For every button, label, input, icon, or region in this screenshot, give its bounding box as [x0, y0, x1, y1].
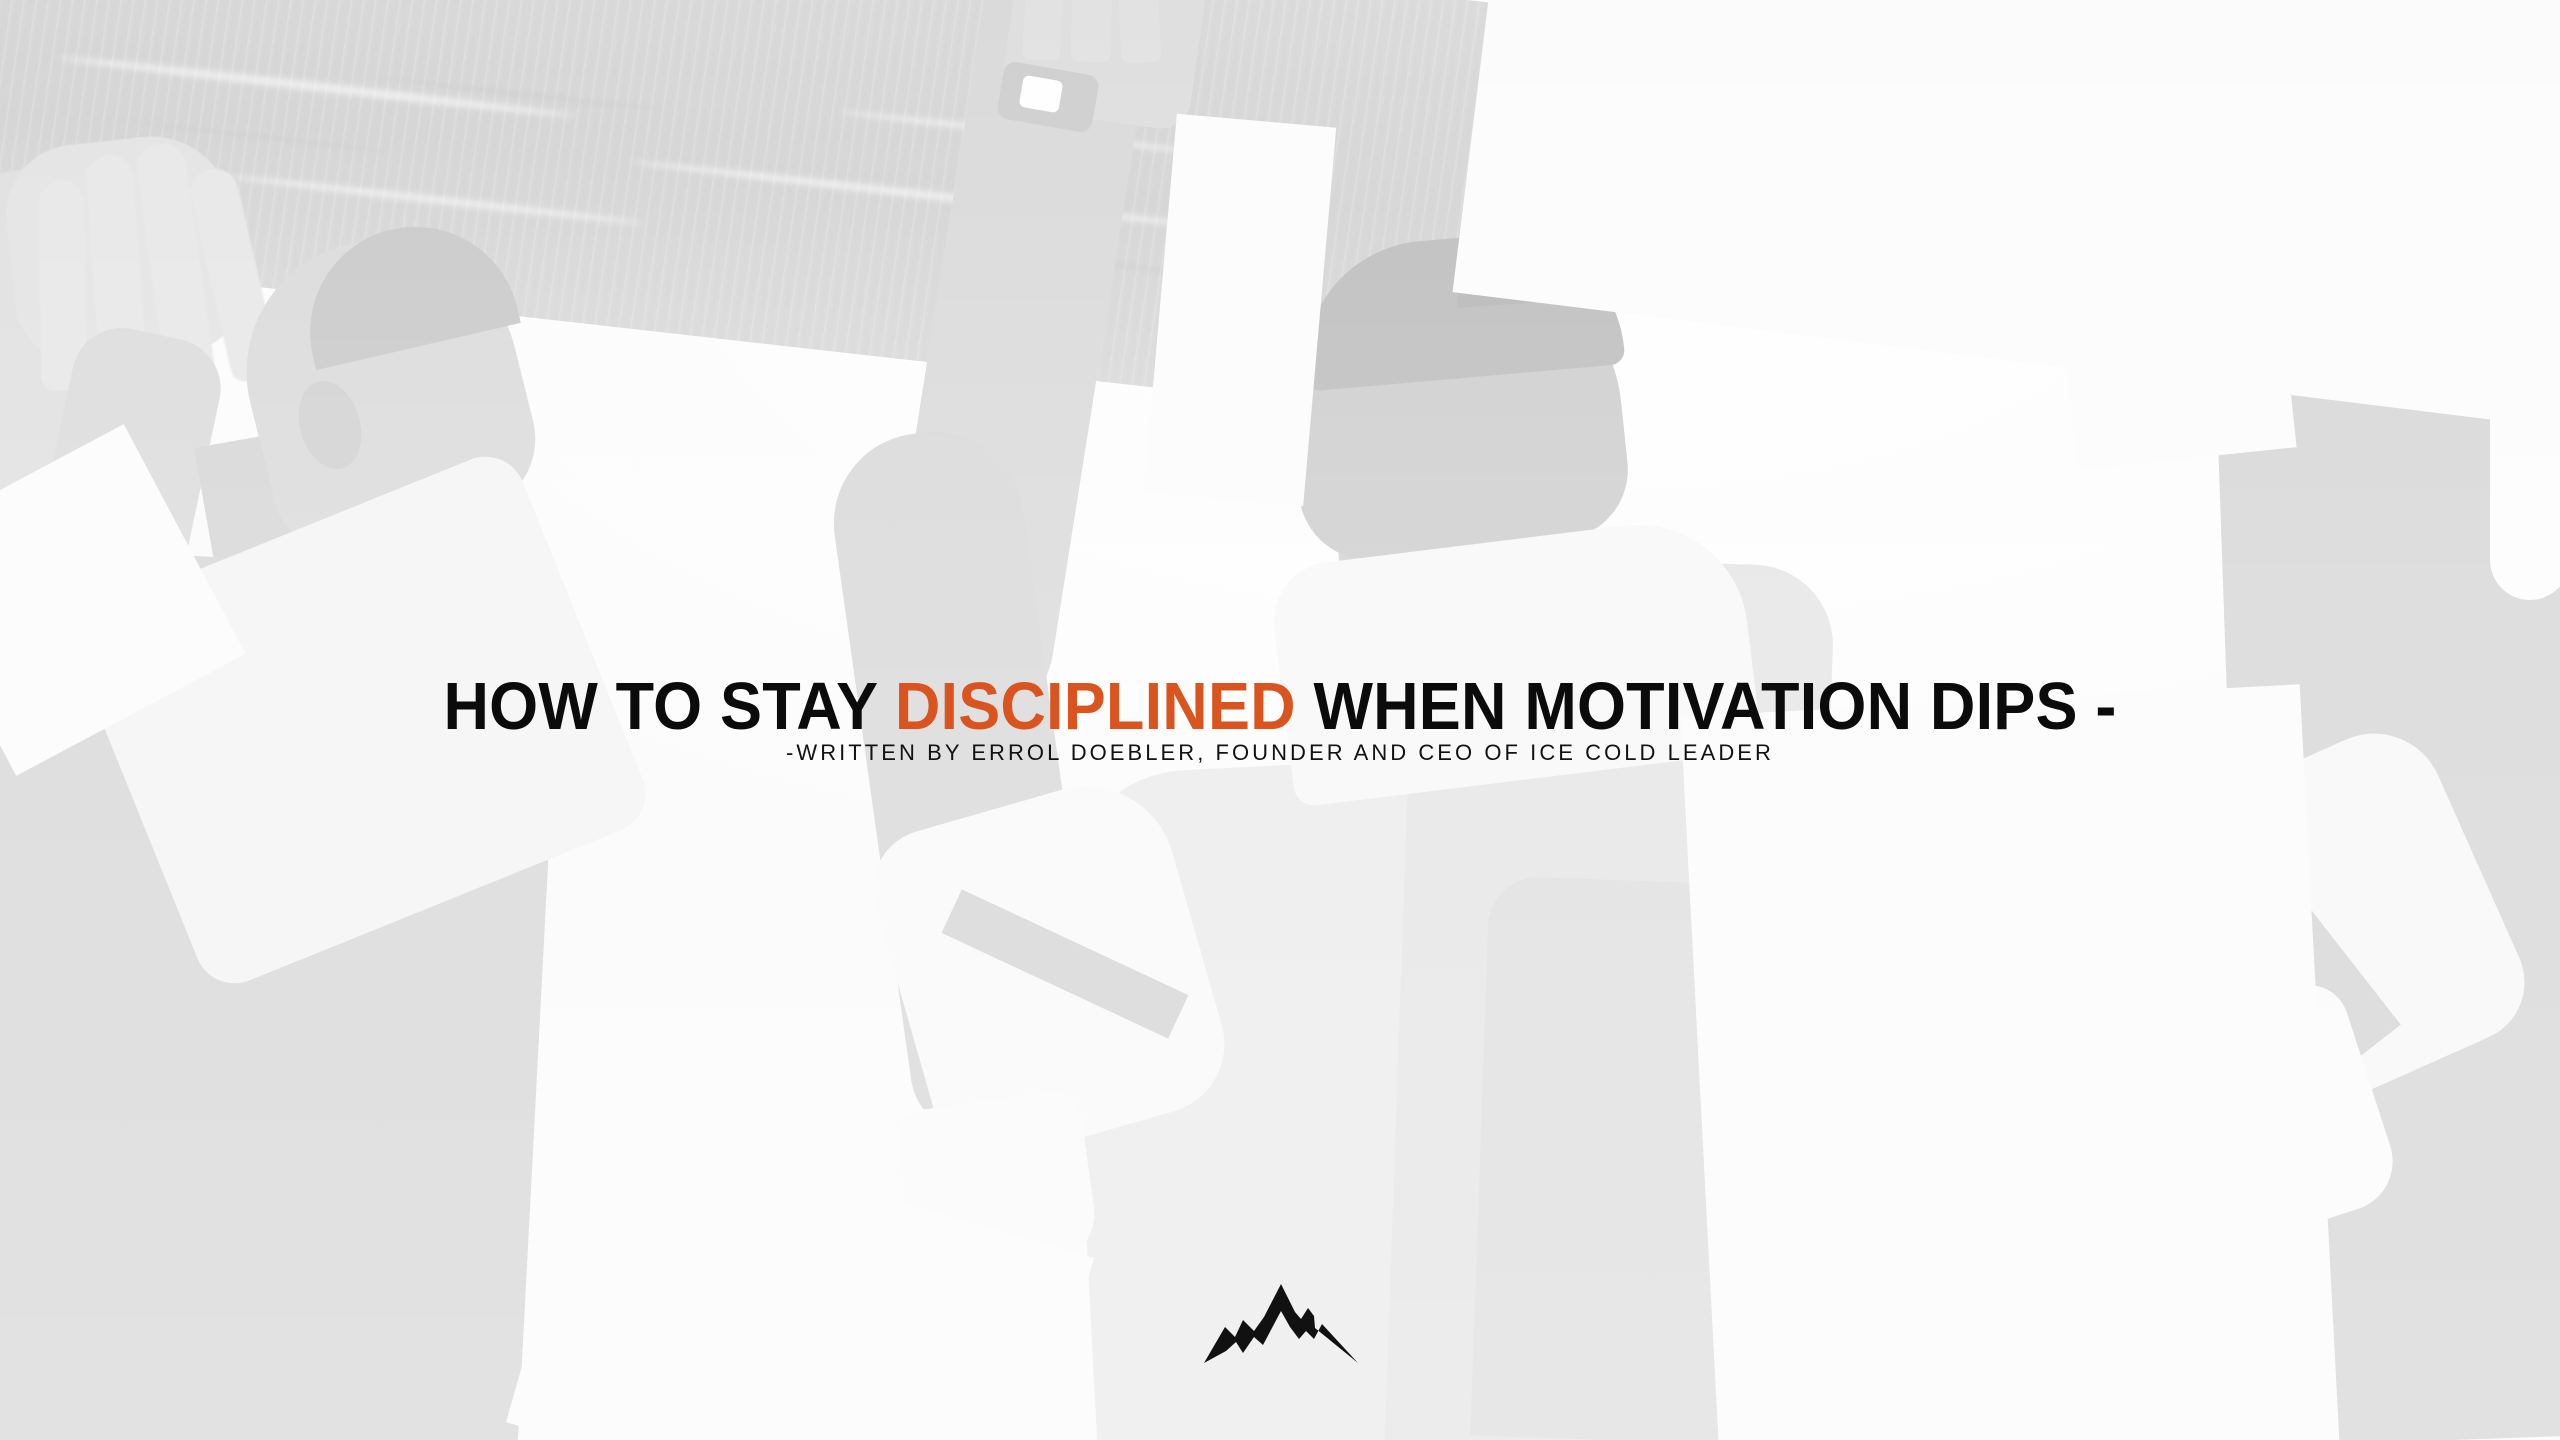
headline-text-after: WHEN MOTIVATION DIPS - [1296, 669, 2117, 744]
mountain-peak-logo [1202, 1281, 1360, 1367]
mountain-peak-icon [1202, 1281, 1360, 1367]
headline-text-before: HOW TO STAY [443, 669, 894, 744]
page-title: HOW TO STAY DISCIPLINED WHEN MOTIVATION … [77, 673, 2483, 740]
headline-accent-word: DISCIPLINED [895, 669, 1296, 744]
article-byline: -WRITTEN BY ERROL DOEBLER, FOUNDER AND C… [0, 740, 2560, 766]
hero-banner: HOW TO STAY DISCIPLINED WHEN MOTIVATION … [0, 0, 2560, 1440]
hero-content: HOW TO STAY DISCIPLINED WHEN MOTIVATION … [0, 0, 2560, 1440]
